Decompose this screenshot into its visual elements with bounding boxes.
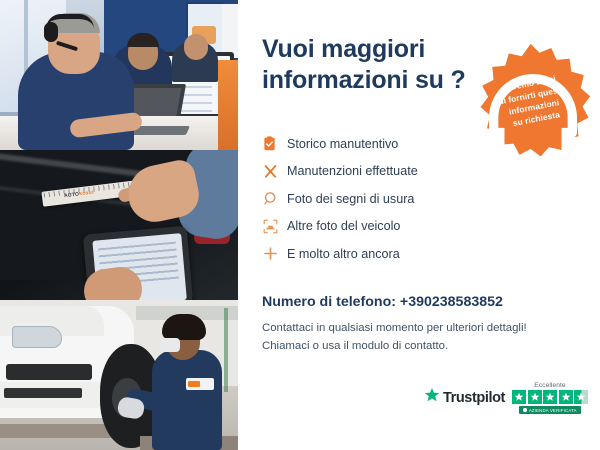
page-title: Vuoi maggiori informazioni su ? — [262, 34, 477, 95]
ruler-brand: AUTOscout — [64, 190, 95, 200]
content-panel: Vuoi maggiori informazioni su ? Saremo f… — [238, 0, 600, 450]
trustpilot-widget[interactable]: Trustpilot Eccellente — [424, 382, 588, 415]
status-badge: AZIENDA VERIFICATA — [519, 406, 580, 414]
face-mask — [160, 338, 180, 352]
list-item: Manutenzioni effettuate — [263, 158, 478, 186]
ad-banner: AUTOscout — [0, 0, 600, 450]
list-item: E molto altro ancora — [263, 240, 478, 268]
contact-subtext-line-1: Contattaci in qualsiasi momento per ulte… — [262, 320, 527, 338]
photo-wheel-inspection — [0, 300, 238, 450]
rating-label: Eccellente — [534, 382, 565, 389]
trustpilot-rating: Eccellente — [512, 382, 588, 415]
green-post — [224, 308, 228, 392]
crossed-tools-icon — [263, 164, 287, 179]
trustpilot-star-icon — [424, 387, 440, 408]
uniform-logo-patch — [186, 378, 214, 390]
list-item-label: E molto altro ancora — [287, 247, 400, 261]
orange-rack — [218, 60, 238, 150]
star-filled-3 — [543, 390, 557, 404]
background-colleague-far-head — [184, 34, 208, 60]
star-filled-2 — [528, 390, 542, 404]
list-item-label: Altre foto del veicolo — [287, 219, 400, 233]
headline-line-2: informazioni su ? — [262, 65, 477, 96]
headset-earcup — [44, 22, 58, 42]
trustpilot-logo: Trustpilot — [424, 387, 505, 408]
phone-number[interactable]: Numero di telefono: +390238583852 — [262, 294, 503, 310]
promo-burst-badge: Saremo felici di fornirti queste informa… — [474, 38, 592, 156]
car-grille — [6, 364, 92, 380]
star-rating — [512, 390, 588, 404]
list-item-label: Storico manutentivo — [287, 137, 398, 151]
wall-poster-secondary — [222, 4, 238, 58]
car-focus-icon — [263, 219, 287, 234]
car-headlight — [12, 326, 62, 348]
trustpilot-wordmark: Trustpilot — [443, 390, 505, 406]
photo-call-centre — [0, 0, 238, 150]
contact-subtext: Contattaci in qualsiasi momento per ulte… — [262, 320, 527, 355]
star-filled-1 — [512, 390, 526, 404]
list-item-label: Foto dei segni di usura — [287, 192, 414, 206]
contact-subtext-line-2: Chiamaci o usa il modulo di contatto. — [262, 338, 527, 356]
list-item-label: Manutenzioni effettuate — [287, 164, 418, 178]
photo-column: AUTOscout — [0, 0, 238, 450]
verified-dot-icon — [523, 408, 527, 412]
mechanic-hair — [162, 314, 206, 340]
clipboard-check-icon — [263, 136, 287, 151]
list-item: Storico manutentivo — [263, 130, 478, 158]
photo-paint-measurement: AUTOscout — [0, 150, 238, 300]
list-item: Foto dei segni di usura — [263, 185, 478, 213]
list-item: Altre foto del veicolo — [263, 213, 478, 241]
feature-list: Storico manutentivo Manutenzioni effettu… — [263, 130, 478, 268]
plus-icon — [263, 246, 287, 261]
magnifier-icon — [263, 191, 287, 206]
star-half-5 — [574, 390, 588, 404]
headline-line-1: Vuoi maggiori — [262, 34, 477, 65]
verified-label: AZIENDA VERIFICATA — [529, 408, 577, 413]
star-filled-4 — [559, 390, 573, 404]
bumper-vent — [4, 388, 82, 398]
